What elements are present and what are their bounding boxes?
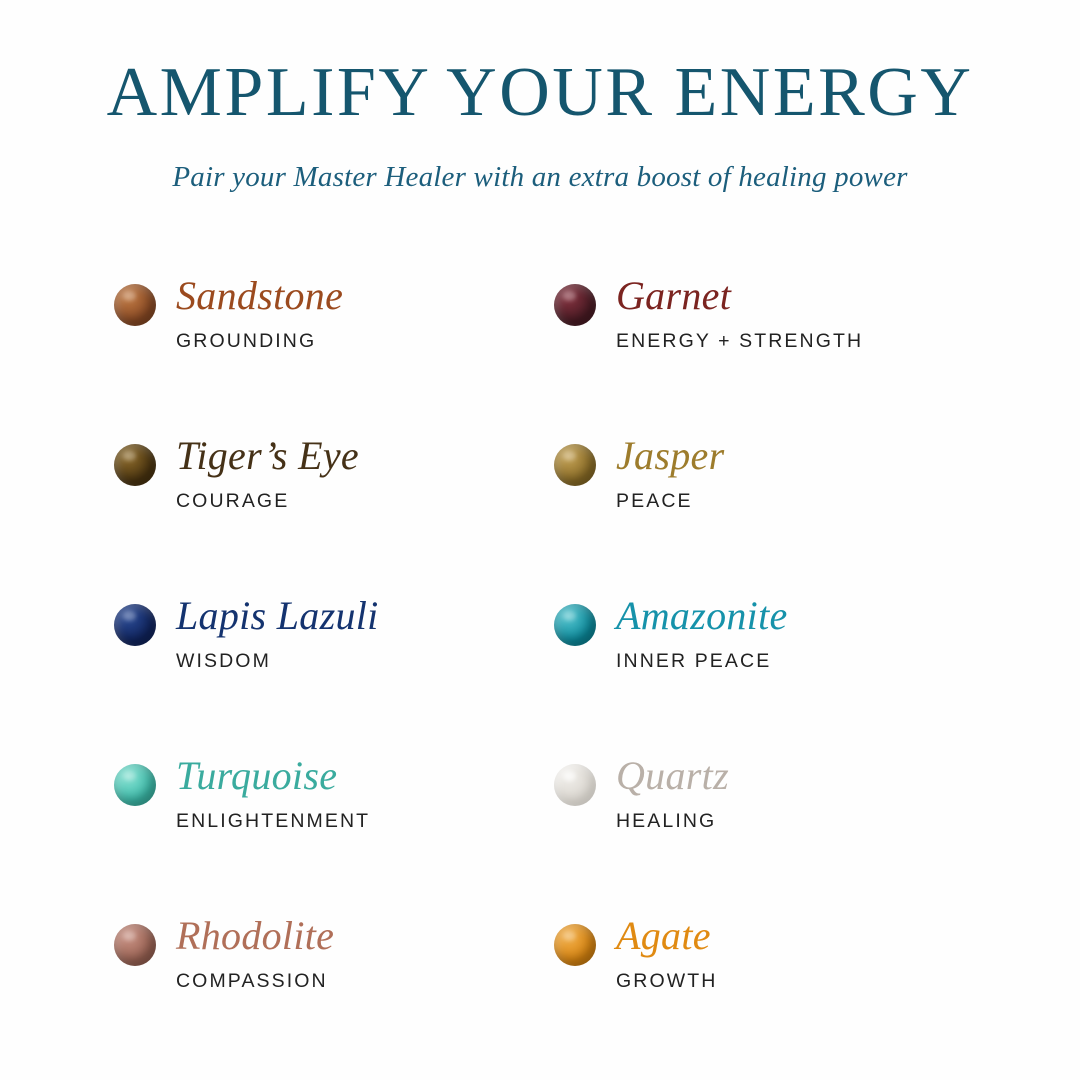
stone-trait: COMPASSION bbox=[176, 972, 328, 992]
stone-item[interactable]: Tiger’s EyeCOURAGE bbox=[114, 436, 554, 596]
stone-item[interactable]: SandstoneGROUNDING bbox=[114, 276, 554, 436]
stone-trait: GROUNDING bbox=[176, 332, 316, 352]
gemstone-bead-icon bbox=[114, 764, 156, 806]
gemstone-bead-icon bbox=[114, 284, 156, 326]
stone-trait: PEACE bbox=[616, 492, 693, 512]
stone-item[interactable]: GarnetENERGY + STRENGTH bbox=[554, 276, 994, 436]
stone-grid: SandstoneGROUNDINGGarnetENERGY + STRENGT… bbox=[0, 276, 1080, 1076]
stone-name: Lapis Lazuli bbox=[176, 596, 379, 636]
page-title: AMPLIFY YOUR ENERGY bbox=[0, 58, 1080, 128]
stone-item[interactable]: RhodoliteCOMPASSION bbox=[114, 916, 554, 1076]
stone-item[interactable]: AgateGROWTH bbox=[554, 916, 994, 1076]
stone-trait: HEALING bbox=[616, 812, 716, 832]
gemstone-bead-icon bbox=[114, 924, 156, 966]
stone-item[interactable]: JasperPEACE bbox=[554, 436, 994, 596]
stone-name: Jasper bbox=[616, 436, 724, 476]
header: AMPLIFY YOUR ENERGY Pair your Master Hea… bbox=[0, 0, 1080, 195]
gemstone-bead-icon bbox=[114, 604, 156, 646]
gemstone-bead-icon bbox=[554, 764, 596, 806]
stone-trait: ENLIGHTENMENT bbox=[176, 812, 370, 832]
gemstone-bead-icon bbox=[114, 444, 156, 486]
stone-item[interactable]: AmazoniteINNER PEACE bbox=[554, 596, 994, 756]
page-subtitle: Pair your Master Healer with an extra bo… bbox=[0, 160, 1080, 195]
stone-name: Turquoise bbox=[176, 756, 337, 796]
stone-trait: COURAGE bbox=[176, 492, 289, 512]
stone-name: Tiger’s Eye bbox=[176, 436, 359, 476]
stone-item[interactable]: Lapis LazuliWISDOM bbox=[114, 596, 554, 756]
stone-name: Quartz bbox=[616, 756, 729, 796]
gemstone-bead-icon bbox=[554, 444, 596, 486]
stone-name: Amazonite bbox=[616, 596, 788, 636]
stone-name: Rhodolite bbox=[176, 916, 334, 956]
gemstone-bead-icon bbox=[554, 604, 596, 646]
poster-canvas: AMPLIFY YOUR ENERGY Pair your Master Hea… bbox=[0, 0, 1080, 1080]
stone-item[interactable]: QuartzHEALING bbox=[554, 756, 994, 916]
stone-trait: WISDOM bbox=[176, 652, 271, 672]
stone-trait: GROWTH bbox=[616, 972, 717, 992]
stone-name: Garnet bbox=[616, 276, 731, 316]
stone-name: Sandstone bbox=[176, 276, 343, 316]
gemstone-bead-icon bbox=[554, 284, 596, 326]
stone-name: Agate bbox=[616, 916, 711, 956]
stone-item[interactable]: TurquoiseENLIGHTENMENT bbox=[114, 756, 554, 916]
gemstone-bead-icon bbox=[554, 924, 596, 966]
stone-trait: INNER PEACE bbox=[616, 652, 771, 672]
stone-trait: ENERGY + STRENGTH bbox=[616, 332, 863, 352]
